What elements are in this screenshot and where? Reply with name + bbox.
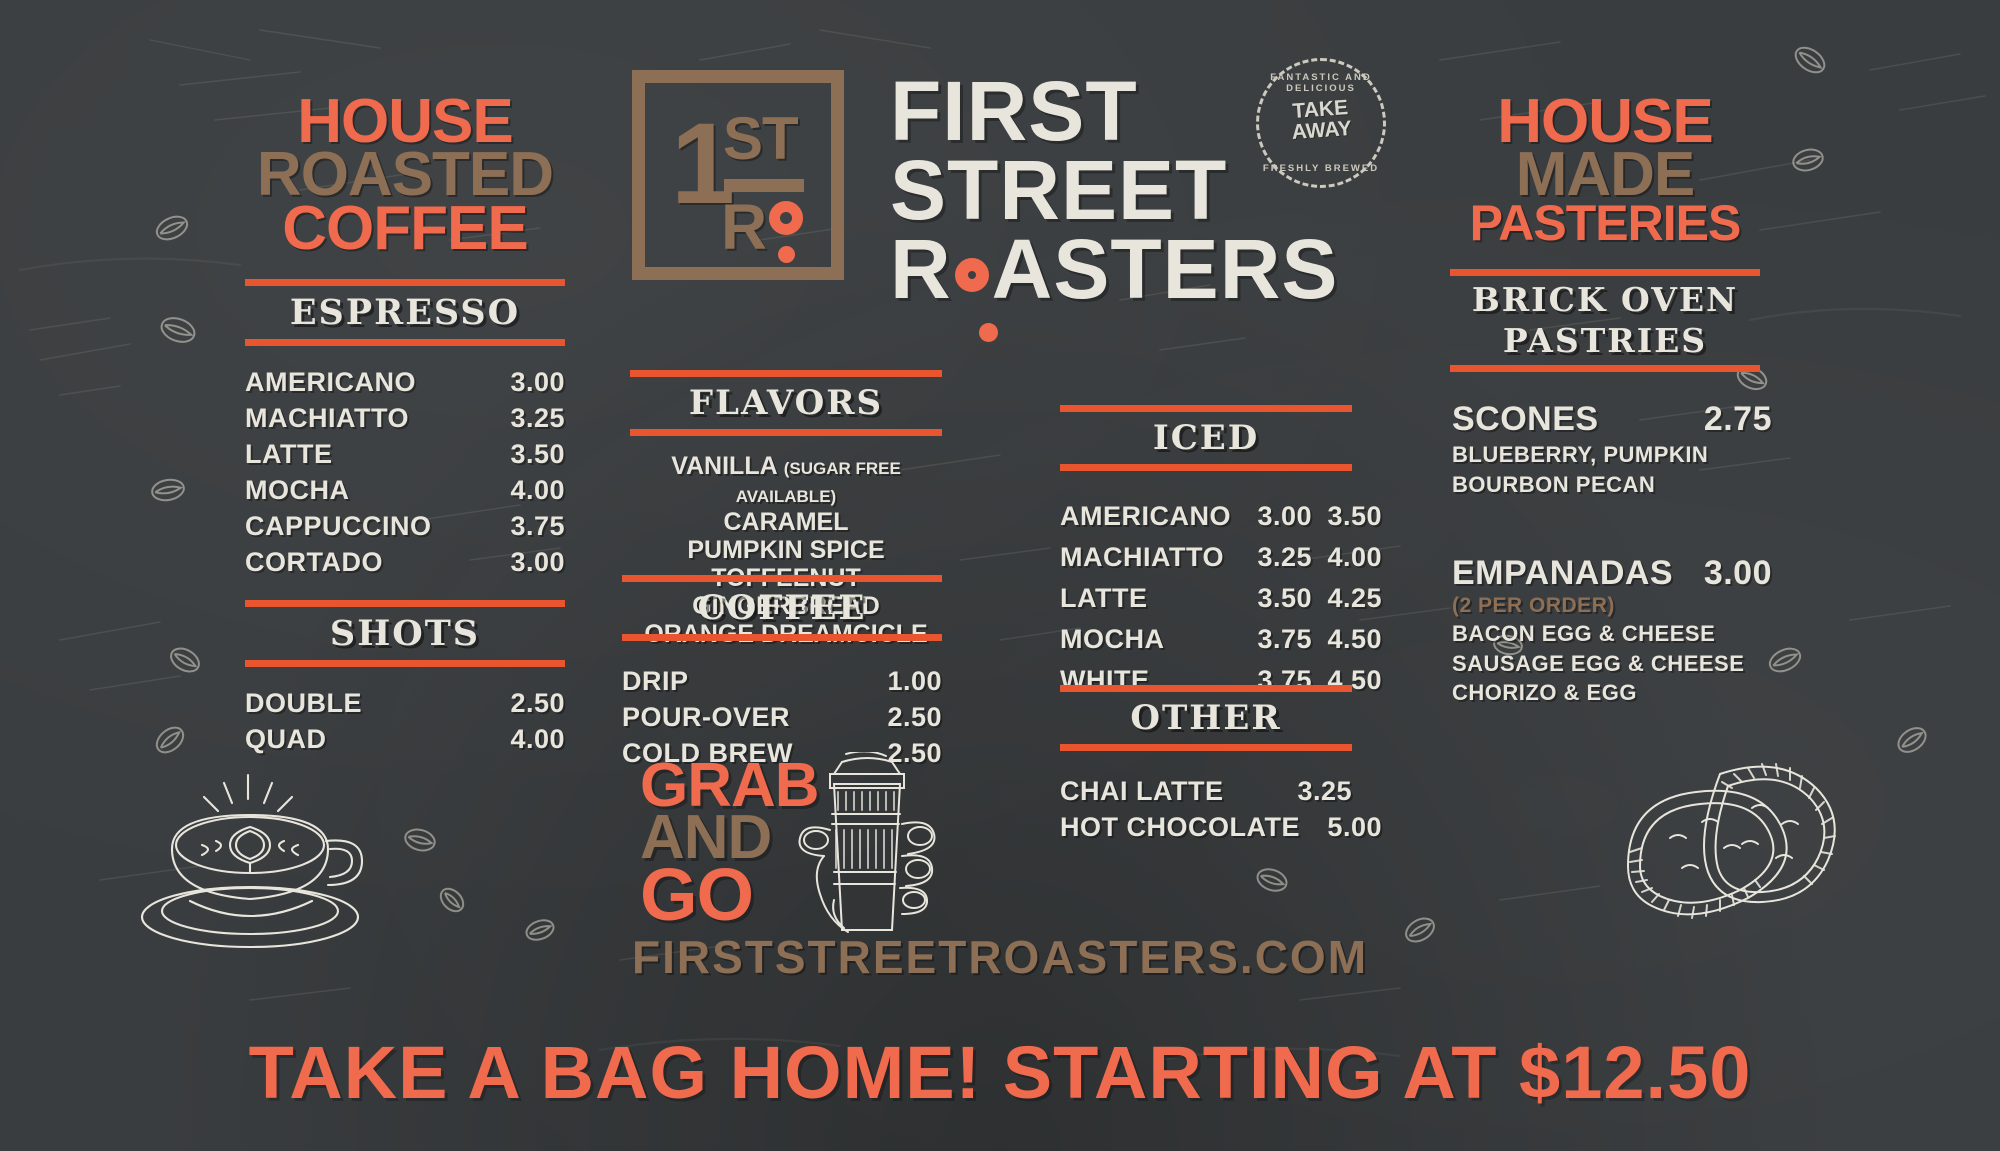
- other-items: CHAI LATTE 3.25 HOT CHOCOLATE 5.00: [1060, 777, 1352, 841]
- pastry-items: SCONES 2.75 BLUEBERRY, PUMPKIN BOURBON P…: [1452, 400, 1772, 707]
- divider-rule: [245, 279, 565, 286]
- o-dot-icon: [979, 323, 998, 342]
- divider-rule: [1060, 405, 1352, 412]
- menu-row: DRIP 1.00: [622, 667, 942, 695]
- item-name: DRIP: [622, 667, 689, 695]
- item-name: MACHIATTO: [245, 404, 409, 432]
- divider-rule: [1450, 365, 1760, 372]
- coffee-section: COFFEE DRIP 1.00 POUR-OVER 2.50 COLD BRE…: [622, 575, 942, 775]
- iced-title: ICED: [1060, 416, 1352, 462]
- divider-rule: [630, 370, 942, 377]
- iced-section: ICED AMERICANO 3.00 3.50 MACHIATTO 3.25 …: [1060, 405, 1352, 706]
- menu-row: MACHIATTO 3.25 4.00: [1060, 542, 1352, 573]
- item-price-large: 4.50: [1312, 624, 1382, 655]
- item-name: SCONES: [1452, 400, 1599, 439]
- item-price-small: 3.25: [1250, 542, 1312, 573]
- menu-row: LATTE 3.50 4.25: [1060, 583, 1352, 614]
- item-name: EMPANADAS: [1452, 554, 1673, 593]
- item-name: AMERICANO: [245, 368, 416, 396]
- item-name: HOT CHOCOLATE: [1060, 813, 1300, 841]
- divider-rule: [1450, 269, 1760, 276]
- heading-line-3: PASTERIES: [1450, 202, 1760, 245]
- item-name: LATTE: [1060, 583, 1250, 614]
- item-price-large: 3.50: [1312, 501, 1382, 532]
- divider-rule: [245, 339, 565, 346]
- item-name: CHAI LATTE: [1060, 777, 1223, 805]
- shots-items: DOUBLE 2.50 QUAD 4.00: [245, 689, 565, 753]
- item-name: QUAD: [245, 725, 327, 753]
- iced-items: AMERICANO 3.00 3.50 MACHIATTO 3.25 4.00 …: [1060, 501, 1352, 696]
- item-price: 3.00: [1704, 554, 1772, 593]
- logo-ring-icon: [769, 201, 803, 235]
- scones-varieties-line-2: BOURBON PECAN: [1452, 471, 1772, 499]
- item-price-large: 4.25: [1312, 583, 1382, 614]
- divider-rule: [1060, 685, 1352, 692]
- heading-line-3: COFFEE: [245, 202, 565, 255]
- item-price-small: 3.50: [1250, 583, 1312, 614]
- item-price: 3.25: [1270, 777, 1352, 805]
- heading-line-2: MADE: [1450, 148, 1760, 201]
- item-name: POUR-OVER: [622, 703, 790, 731]
- empanadas-row: EMPANADAS 3.00: [1452, 554, 1772, 593]
- menu-row: CAPPUCCINO 3.75: [245, 512, 565, 540]
- logo-frame: 1 ST R: [632, 70, 844, 280]
- logo-st: ST: [723, 109, 798, 169]
- divider-rule: [622, 575, 942, 582]
- menu-row: MACHIATTO 3.25: [245, 404, 565, 432]
- menu-row: CORTADO 3.00: [245, 548, 565, 576]
- divider-rule: [1060, 744, 1352, 751]
- flavors-section-header: FLAVORS: [630, 370, 942, 436]
- flavors-title: FLAVORS: [630, 381, 942, 427]
- scones-row: SCONES 2.75: [1452, 400, 1772, 439]
- item-price: 2.50: [475, 689, 565, 717]
- empanadas-varieties-line-1: BACON EGG & CHEESE: [1452, 620, 1772, 648]
- menu-row: MOCHA 4.00: [245, 476, 565, 504]
- wordmark-asters: ASTERS: [992, 222, 1339, 316]
- item-price-small: 3.00: [1250, 501, 1312, 532]
- espresso-items: AMERICANO 3.00 MACHIATTO 3.25 LATTE 3.50…: [245, 368, 565, 576]
- flavor-item: CARAMEL: [630, 508, 942, 536]
- item-price: 3.00: [475, 368, 565, 396]
- other-section: OTHER CHAI LATTE 3.25 HOT CHOCOLATE 5.00: [1060, 685, 1352, 849]
- menu-row: HOT CHOCOLATE 5.00: [1060, 813, 1352, 841]
- item-price: 3.50: [475, 440, 565, 468]
- shots-section-header: SHOTS: [245, 600, 565, 667]
- o-ring-icon: [955, 258, 989, 292]
- item-name: MOCHA: [1060, 624, 1250, 655]
- logo-letter-r: R: [721, 195, 768, 259]
- brand-logo-mark: 1 ST R: [632, 70, 844, 280]
- menu-row: CHAI LATTE 3.25: [1060, 777, 1352, 805]
- grab-and-go-callout: GRAB AND GO: [640, 760, 819, 926]
- item-price: 3.00: [475, 548, 565, 576]
- right-column: HOUSE MADE PASTERIES BRICK OVEN PASTRIES: [1450, 95, 1760, 372]
- item-name: AMERICANO: [1060, 501, 1250, 532]
- left-column: HOUSE ROASTED COFFEE ESPRESSO AMERICANO …: [245, 95, 565, 762]
- scones-varieties-line-1: BLUEBERRY, PUMPKIN: [1452, 441, 1772, 469]
- item-price: 1.00: [852, 667, 942, 695]
- badge-center-text: TAKE AWAY: [1258, 95, 1385, 146]
- badge-bottom-text: FRESHLY BREWED: [1259, 163, 1383, 174]
- item-name: CAPPUCCINO: [245, 512, 432, 540]
- menu-row: AMERICANO 3.00: [245, 368, 565, 396]
- menu-row: LATTE 3.50: [245, 440, 565, 468]
- wordmark-line-3: RASTERS: [890, 230, 1338, 309]
- shots-title: SHOTS: [245, 611, 565, 658]
- brick-oven-title-line-2: PASTRIES: [1450, 321, 1760, 363]
- item-price: 4.00: [475, 476, 565, 504]
- flavor-item: VANILLA (SUGAR FREE AVAILABLE): [630, 452, 942, 508]
- item-name: DOUBLE: [245, 689, 362, 717]
- menu-row: QUAD 4.00: [245, 725, 565, 753]
- flavor-item: PUMPKIN SPICE: [630, 536, 942, 564]
- house-roasted-coffee-heading: HOUSE ROASTED COFFEE: [245, 95, 565, 255]
- item-price: 2.50: [852, 739, 942, 767]
- menu-row: DOUBLE 2.50: [245, 689, 565, 717]
- spacer: [1452, 498, 1772, 554]
- item-name: MOCHA: [245, 476, 350, 504]
- item-price-large: 4.00: [1312, 542, 1382, 573]
- other-section-header: OTHER: [1060, 685, 1352, 751]
- item-price: 2.75: [1704, 400, 1772, 439]
- divider-rule: [1060, 464, 1352, 471]
- item-price: 3.25: [475, 404, 565, 432]
- take-away-badge: FANTASTIC AND DELICIOUS TAKE AWAY FRESHL…: [1256, 58, 1386, 188]
- empanadas-illustration: [1612, 748, 1852, 938]
- flavor-name: VANILLA: [671, 452, 777, 480]
- item-price-small: 3.75: [1250, 624, 1312, 655]
- wordmark-r: R: [890, 222, 952, 316]
- item-name: MACHIATTO: [1060, 542, 1250, 573]
- espresso-section-header: ESPRESSO: [245, 279, 565, 346]
- item-price: 3.75: [475, 512, 565, 540]
- empanadas-block: EMPANADAS 3.00 (2 PER ORDER) BACON EGG &…: [1452, 554, 1772, 707]
- website-url[interactable]: FIRSTSTREETROASTERS.COM: [0, 930, 2000, 984]
- item-name: LATTE: [245, 440, 332, 468]
- logo-dot-icon: [778, 246, 795, 263]
- scones-block: SCONES 2.75 BLUEBERRY, PUMPKIN BOURBON P…: [1452, 400, 1772, 498]
- grab-and-go-line-3: GO: [640, 864, 819, 926]
- menu-row: POUR-OVER 2.50: [622, 703, 942, 731]
- house-made-pasteries-heading: HOUSE MADE PASTERIES: [1450, 95, 1760, 245]
- item-price: 4.00: [475, 725, 565, 753]
- badge-top-text: FANTASTIC AND DELICIOUS: [1259, 72, 1383, 94]
- coffee-title: COFFEE: [622, 586, 942, 632]
- promo-banner: TAKE A BAG HOME! STARTING AT $12.50: [0, 1030, 2000, 1115]
- divider-rule: [245, 660, 565, 667]
- menu-row: MOCHA 3.75 4.50: [1060, 624, 1352, 655]
- empanadas-note: (2 PER ORDER): [1452, 594, 1772, 618]
- empanadas-varieties-line-3: CHORIZO & EGG: [1452, 679, 1772, 707]
- iced-section-header: ICED: [1060, 405, 1352, 471]
- item-name: CORTADO: [245, 548, 383, 576]
- divider-rule: [245, 600, 565, 607]
- item-price: 2.50: [852, 703, 942, 731]
- menu-row: AMERICANO 3.00 3.50: [1060, 501, 1352, 532]
- espresso-title: ESPRESSO: [245, 290, 565, 337]
- brick-oven-pastries-header: BRICK OVEN PASTRIES: [1450, 269, 1760, 372]
- item-price: 5.00: [1300, 813, 1382, 841]
- brick-oven-title-line-1: BRICK OVEN: [1450, 280, 1760, 322]
- divider-rule: [622, 634, 942, 641]
- wordmark-roasters: RASTERS: [890, 230, 1338, 309]
- divider-rule: [630, 429, 942, 436]
- empanadas-varieties-line-2: SAUSAGE EGG & CHEESE: [1452, 650, 1772, 678]
- other-title: OTHER: [1060, 696, 1352, 742]
- coffee-section-header: COFFEE: [622, 575, 942, 641]
